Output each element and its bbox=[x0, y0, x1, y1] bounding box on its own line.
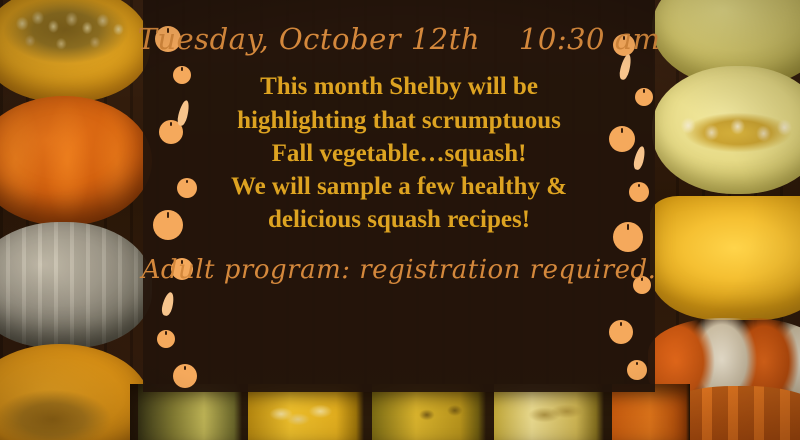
flyer-content: Tuesday, October 12th 10:30 am This mont… bbox=[143, 0, 655, 392]
description-line: We will sample a few healthy & bbox=[179, 170, 619, 203]
description-line: This month Shelby will be bbox=[179, 70, 619, 103]
description-line: delicious squash recipes! bbox=[179, 203, 619, 236]
bottom-strip-seed-detail bbox=[130, 392, 690, 436]
description-line: Fall vegetable…squash! bbox=[179, 137, 619, 170]
grey-hubbard-squash-image bbox=[0, 222, 152, 348]
event-date-time-headline: Tuesday, October 12th 10:30 am bbox=[138, 24, 661, 54]
yellow-cut-squash-image bbox=[650, 196, 800, 320]
squash-seeds-detail bbox=[4, 2, 134, 74]
event-description: This month Shelby will be highlighting t… bbox=[179, 70, 619, 236]
description-line: highlighting that scrumptuous bbox=[179, 104, 619, 137]
event-flyer: Tuesday, October 12th 10:30 am This mont… bbox=[0, 0, 800, 440]
registration-notice: Adult program: registration required. bbox=[142, 257, 657, 284]
spaghetti-squash-seeds-detail bbox=[670, 108, 800, 152]
